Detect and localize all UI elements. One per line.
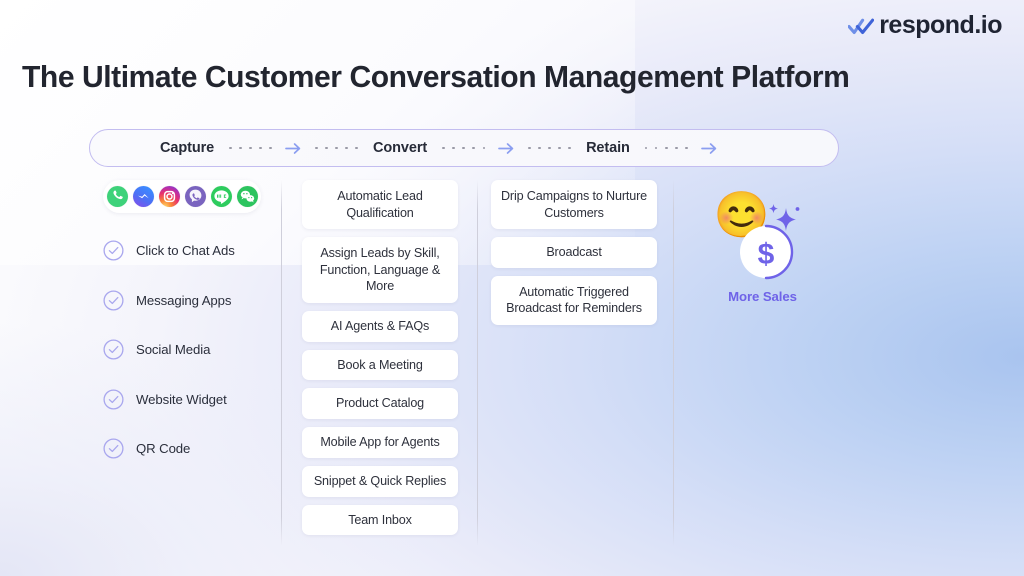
sparkles-icon: [764, 200, 802, 238]
more-sales-label: More Sales: [695, 289, 830, 304]
pipeline-stage-retain: Retain: [586, 140, 718, 156]
channel-icon-row: [103, 180, 261, 213]
convert-card[interactable]: Product Catalog: [302, 388, 458, 419]
pipeline-dots: [528, 147, 571, 150]
capture-column: Click to Chat Ads Messaging Apps Social …: [103, 180, 273, 482]
more-sales-illustration: 😊 $: [704, 190, 822, 282]
capture-item-label: Click to Chat Ads: [136, 243, 235, 258]
instagram-icon: [159, 186, 180, 207]
svg-text:$: $: [757, 238, 774, 271]
pipeline-stage-label: Retain: [586, 140, 630, 156]
capture-list-item[interactable]: Social Media: [103, 333, 273, 366]
pipeline-stage-convert: Convert: [373, 140, 586, 156]
pipeline-dots: [645, 147, 688, 150]
pipeline-stage-label: Convert: [373, 140, 427, 156]
arrow-right-icon: [285, 142, 302, 155]
capture-list-item[interactable]: Website Widget: [103, 383, 273, 416]
brand-logo: respond.io: [848, 13, 1002, 38]
pipeline-dots: [229, 147, 272, 150]
column-divider: [477, 180, 478, 546]
column-divider: [281, 180, 282, 546]
column-divider: [673, 180, 674, 546]
check-circle-icon: [103, 389, 124, 410]
pipeline-stage-capture: Capture: [160, 140, 373, 156]
convert-card[interactable]: Mobile App for Agents: [302, 427, 458, 458]
capture-item-label: Social Media: [136, 342, 210, 357]
retain-card[interactable]: Automatic Triggered Broadcast for Remind…: [491, 276, 657, 325]
convert-card[interactable]: Book a Meeting: [302, 350, 458, 381]
page-title: The Ultimate Customer Conversation Manag…: [22, 60, 849, 95]
arrow-right-icon: [701, 142, 718, 155]
retain-column: Drip Campaigns to Nurture Customers Broa…: [491, 180, 657, 325]
pipeline-stage-label: Capture: [160, 140, 214, 156]
brand-name: respond.io: [879, 13, 1002, 38]
content-area: Click to Chat Ads Messaging Apps Social …: [0, 180, 1024, 550]
wechat-icon: [237, 186, 258, 207]
double-check-icon: [848, 16, 874, 36]
capture-item-label: Website Widget: [136, 392, 227, 407]
capture-list-item[interactable]: Click to Chat Ads: [103, 234, 273, 267]
convert-card[interactable]: Snippet & Quick Replies: [302, 466, 458, 497]
convert-card[interactable]: Assign Leads by Skill, Function, Languag…: [302, 237, 458, 303]
retain-card[interactable]: Broadcast: [491, 237, 657, 268]
convert-card[interactable]: Automatic Lead Qualification: [302, 180, 458, 229]
viber-icon: [185, 186, 206, 207]
capture-item-label: Messaging Apps: [136, 293, 231, 308]
capture-item-label: QR Code: [136, 441, 190, 456]
pipeline-bar: Capture Convert Retain: [89, 129, 839, 167]
pipeline-dots: [315, 147, 358, 150]
retain-card[interactable]: Drip Campaigns to Nurture Customers: [491, 180, 657, 229]
line-icon: [211, 186, 232, 207]
whatsapp-icon: [107, 186, 128, 207]
arrow-right-icon: [498, 142, 515, 155]
check-circle-icon: [103, 339, 124, 360]
capture-list-item[interactable]: QR Code: [103, 432, 273, 465]
pipeline-dots: [442, 147, 485, 150]
convert-card[interactable]: Team Inbox: [302, 505, 458, 536]
check-circle-icon: [103, 290, 124, 311]
convert-column: Automatic Lead Qualification Assign Lead…: [302, 180, 458, 535]
check-circle-icon: [103, 438, 124, 459]
check-circle-icon: [103, 240, 124, 261]
convert-card[interactable]: AI Agents & FAQs: [302, 311, 458, 342]
capture-list-item[interactable]: Messaging Apps: [103, 284, 273, 317]
outcome-column: 😊 $ More Sales: [695, 190, 830, 304]
messenger-icon: [133, 186, 154, 207]
